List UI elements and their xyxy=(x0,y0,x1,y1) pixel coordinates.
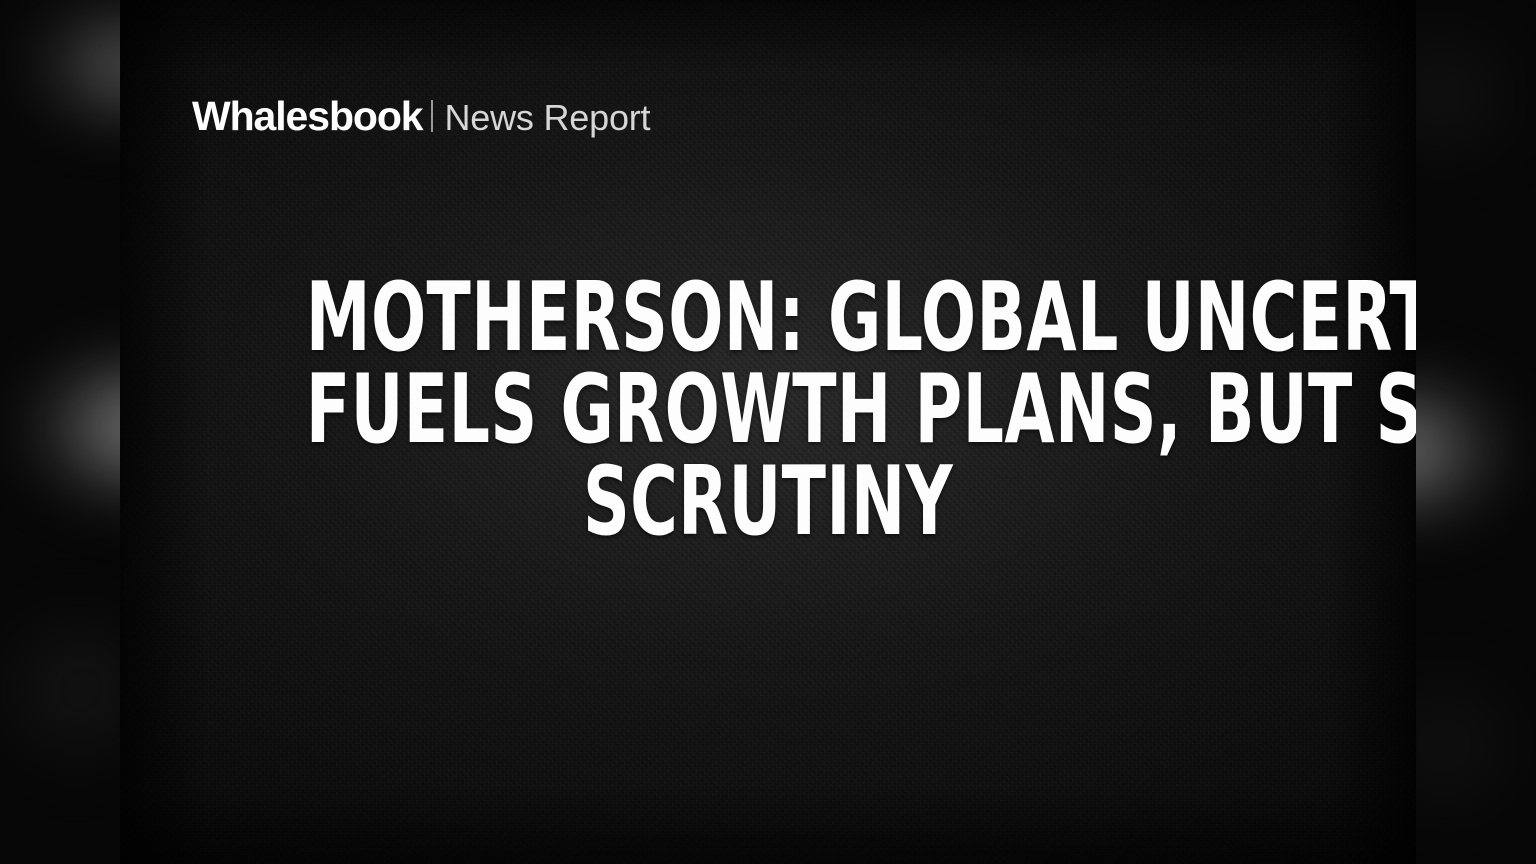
backdrop-glow-blob xyxy=(30,10,120,120)
backdrop-glow-blob xyxy=(1416,660,1536,830)
brand-tagline: News Report xyxy=(444,100,650,136)
backdrop-glow-blob xyxy=(28,355,120,500)
backdrop-glow-blob xyxy=(1416,380,1506,520)
headline-line-3: SCRUTINY xyxy=(306,456,1230,548)
brand-lockup: Whalesbook News Report xyxy=(192,96,650,137)
headline-line-2: FUELS GROWTH PLANS, BUT STOCK FACES xyxy=(306,364,1230,456)
left-letterbox-backdrop xyxy=(0,0,120,864)
headline-line-1: MOTHERSON: GLOBAL UNCERTAINTY xyxy=(306,272,1230,364)
headline: MOTHERSON: GLOBAL UNCERTAINTY FUELS GROW… xyxy=(120,272,1416,548)
brand-name: Whalesbook xyxy=(192,96,422,137)
brand-divider-icon xyxy=(431,100,433,132)
news-report-card: Whalesbook News Report MOTHERSON: GLOBAL… xyxy=(0,0,1536,864)
backdrop-glow-blob xyxy=(1416,20,1526,170)
content-panel: Whalesbook News Report MOTHERSON: GLOBAL… xyxy=(120,0,1416,864)
backdrop-glow-blob xyxy=(0,600,120,780)
right-letterbox-backdrop xyxy=(1416,0,1536,864)
